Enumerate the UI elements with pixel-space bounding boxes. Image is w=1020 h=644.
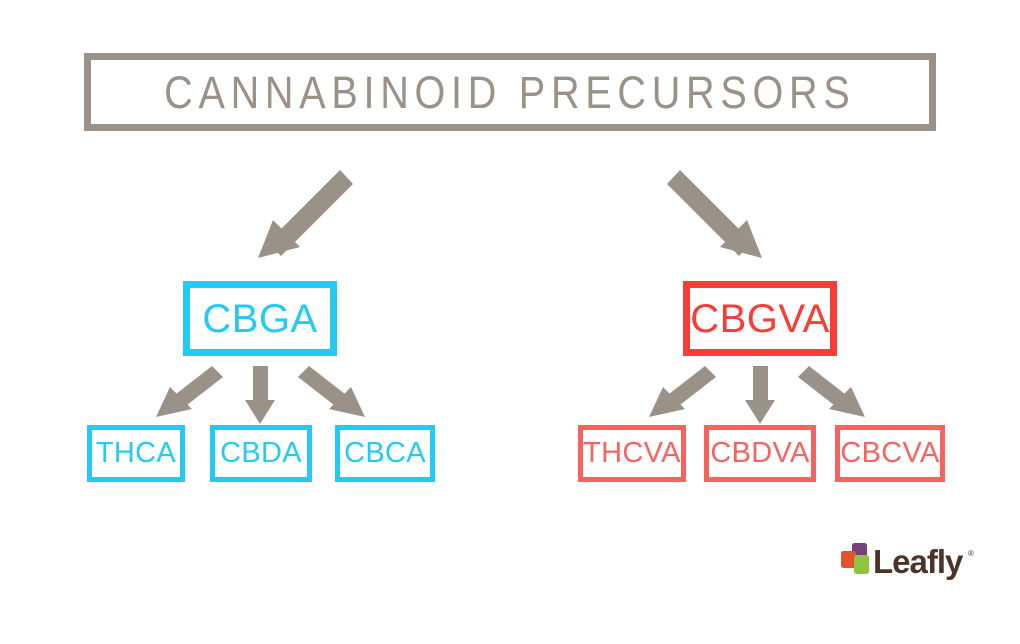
node-cbgva-label: CBGVA — [690, 299, 830, 339]
arrow-cbga-to-thca — [156, 366, 223, 417]
page-title: CANNABINOID PRECURSORS — [164, 70, 855, 115]
node-cbcva-label: CBCVA — [840, 439, 939, 468]
node-cbda-label: CBDA — [220, 439, 302, 468]
leafly-logo[interactable]: Leafly ® — [840, 540, 980, 590]
node-cbcva[interactable]: CBCVA — [835, 425, 945, 482]
arrow-cbga-to-cbca — [298, 366, 365, 417]
arrow-cbgva-to-cbcva — [798, 366, 865, 417]
logo-trademark: ® — [968, 549, 974, 558]
node-thca-label: THCA — [96, 439, 176, 468]
arrow-cbgva-to-thcva — [649, 366, 716, 417]
node-cbga[interactable]: CBGA — [183, 281, 337, 356]
node-cbdva[interactable]: CBDVA — [704, 425, 816, 482]
diagram-canvas: CANNABINOID PRECURSORS — [0, 0, 1020, 644]
node-thca[interactable]: THCA — [87, 425, 185, 482]
arrow-title-to-cbga — [258, 170, 353, 258]
node-cbdva-label: CBDVA — [710, 439, 809, 468]
logo-square-orange — [841, 551, 856, 568]
arrow-title-to-cbgva — [667, 170, 762, 258]
node-thcva-label: THCVA — [583, 439, 681, 468]
node-cbca-label: CBCA — [344, 439, 426, 468]
arrow-cbga-to-cbda — [245, 366, 275, 424]
node-cbda[interactable]: CBDA — [210, 425, 312, 482]
logo-wordmark: Leafly — [873, 543, 964, 580]
arrow-cbgva-to-cbdva — [745, 366, 775, 424]
logo-square-green — [854, 555, 869, 574]
node-cbca[interactable]: CBCA — [335, 425, 435, 482]
title-banner: CANNABINOID PRECURSORS — [84, 53, 936, 131]
node-cbgva[interactable]: CBGVA — [683, 281, 837, 356]
node-cbga-label: CBGA — [202, 299, 317, 339]
node-thcva[interactable]: THCVA — [578, 425, 686, 482]
